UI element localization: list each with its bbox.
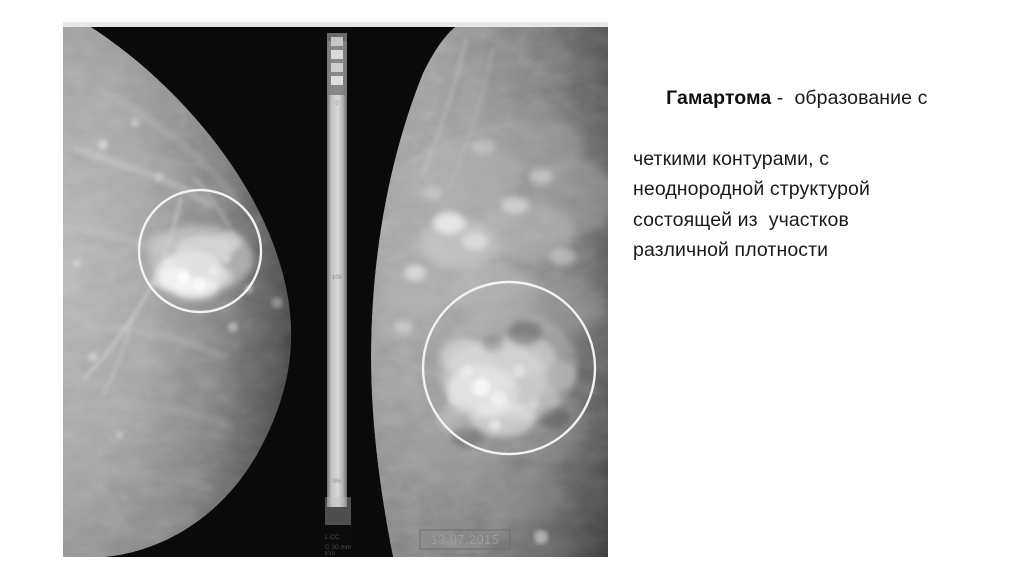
dicom-thumbnail (325, 497, 351, 525)
dicom-info-line2: C 30 mm (325, 544, 351, 551)
scale-bar-mid-label: 100 (332, 275, 343, 281)
caption-line-4: состоящей из участков (633, 205, 983, 236)
dicom-info-line1: L CC (325, 534, 340, 541)
dicom-info-line3: kVp (325, 551, 336, 557)
date-overlay: 13.07.2015 (420, 530, 510, 549)
caption-line-1: Гамартома - образование с (633, 52, 983, 144)
left-nipple-marker (272, 298, 283, 309)
caption-separator: - (771, 87, 794, 109)
mammogram-image: 0 100 0% L CC C 30 mm kVp 13.07.2015 (63, 27, 608, 557)
caption-line-5: различной плотности (633, 235, 983, 266)
date-overlay-text: 13.07.2015 (431, 533, 500, 547)
right-fold-marker (534, 530, 548, 544)
scale-bar-top-controls[interactable] (327, 33, 347, 95)
caption-block: Гамартома - образование с четкими контур… (633, 52, 983, 266)
grayscale-calibration-bar: 0 100 0% (321, 27, 351, 557)
caption-term: Гамартома (666, 87, 771, 109)
caption-line-2: четкими контурами, с (633, 144, 983, 175)
scale-bar-bottom-label: 0% (333, 479, 342, 485)
slide-root: 0 100 0% L CC C 30 mm kVp 13.07.2015 Гам… (0, 0, 1024, 574)
caption-line-1-text: образование с (794, 87, 927, 109)
mammogram-canvas: 0 100 0% L CC C 30 mm kVp 13.07.2015 (63, 27, 608, 557)
caption-line-3: неоднородной структурой (633, 174, 983, 205)
